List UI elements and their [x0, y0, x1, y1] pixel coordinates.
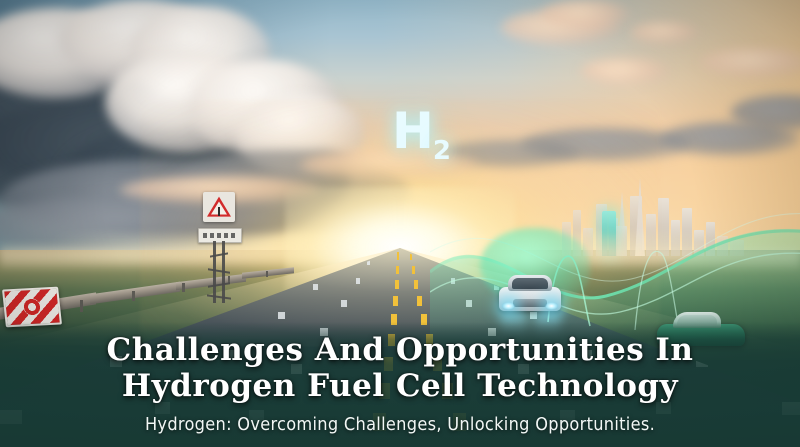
title-block: Challenges And Opportunities In Hydrogen…	[0, 322, 800, 447]
title-line-2: Hydrogen Fuel Cell Technology	[122, 369, 678, 403]
h2-subscript: 2	[433, 136, 451, 166]
h2-letter: H	[392, 102, 433, 160]
roadside-warning-sign	[196, 192, 242, 310]
subtitle: Hydrogen: Overcoming Challenges, Unlocki…	[145, 414, 655, 436]
sign-info-plate	[198, 228, 242, 243]
white-sedan	[497, 272, 563, 316]
hydrogen-fuel-cell-poster: H2	[0, 0, 800, 447]
h2-symbol: H2	[392, 106, 451, 176]
warning-triangle-icon	[203, 192, 235, 222]
title-line-1: Challenges And Opportunities In	[107, 333, 694, 367]
